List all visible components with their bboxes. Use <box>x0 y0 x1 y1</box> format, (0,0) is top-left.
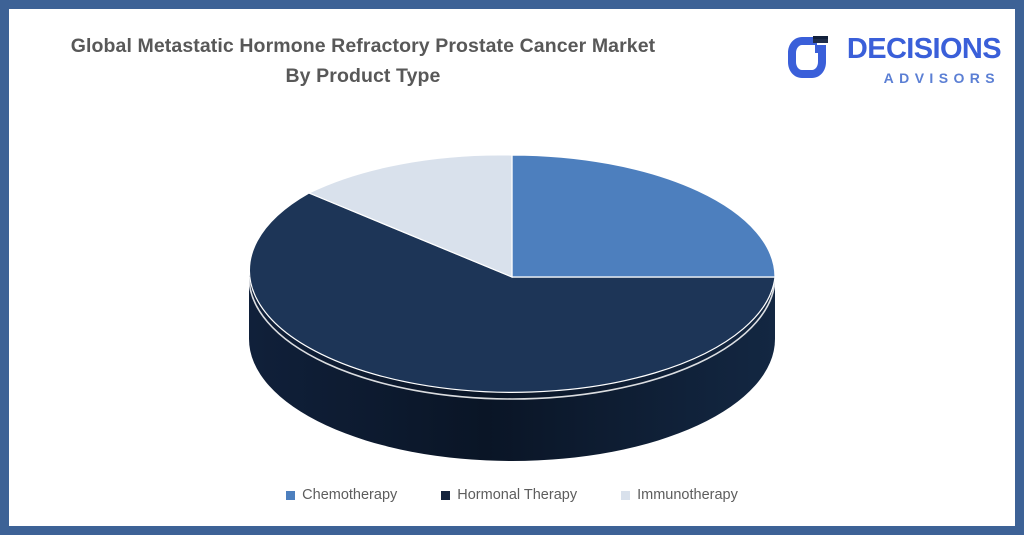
legend-item-immunotherapy[interactable]: Immunotherapy <box>621 487 738 503</box>
legend-label: Hormonal Therapy <box>457 487 577 503</box>
legend-swatch-icon <box>441 491 450 500</box>
chart-frame: Global Metastatic Hormone Refractory Pro… <box>0 0 1024 535</box>
legend-swatch-icon <box>621 491 630 500</box>
logo-wordmark: DECISIONS ADVISORS <box>847 35 1001 85</box>
logo-secondary-text: ADVISORS <box>847 71 1001 85</box>
logo-primary-text: DECISIONS <box>847 35 1001 64</box>
legend-item-hormonal-therapy[interactable]: Hormonal Therapy <box>441 487 577 503</box>
legend-swatch-icon <box>286 491 295 500</box>
pie-top-face <box>249 155 775 392</box>
title-line-1: Global Metastatic Hormone Refractory Pro… <box>23 31 703 61</box>
legend-label: Immunotherapy <box>637 487 738 503</box>
decisions-advisors-logo-mark-icon <box>785 33 837 86</box>
legend-label: Chemotherapy <box>302 487 397 503</box>
pie-slice-chemotherapy[interactable] <box>512 155 775 277</box>
chart-canvas: Global Metastatic Hormone Refractory Pro… <box>9 9 1015 526</box>
brand-logo: DECISIONS ADVISORS <box>785 33 1001 86</box>
title-line-2: By Product Type <box>23 61 703 91</box>
legend-item-chemotherapy[interactable]: Chemotherapy <box>286 487 397 503</box>
chart-header: Global Metastatic Hormone Refractory Pro… <box>9 9 1015 119</box>
page-title: Global Metastatic Hormone Refractory Pro… <box>23 31 703 91</box>
pie-chart <box>9 119 1015 479</box>
chart-legend: Chemotherapy Hormonal Therapy Immunother… <box>9 487 1015 503</box>
